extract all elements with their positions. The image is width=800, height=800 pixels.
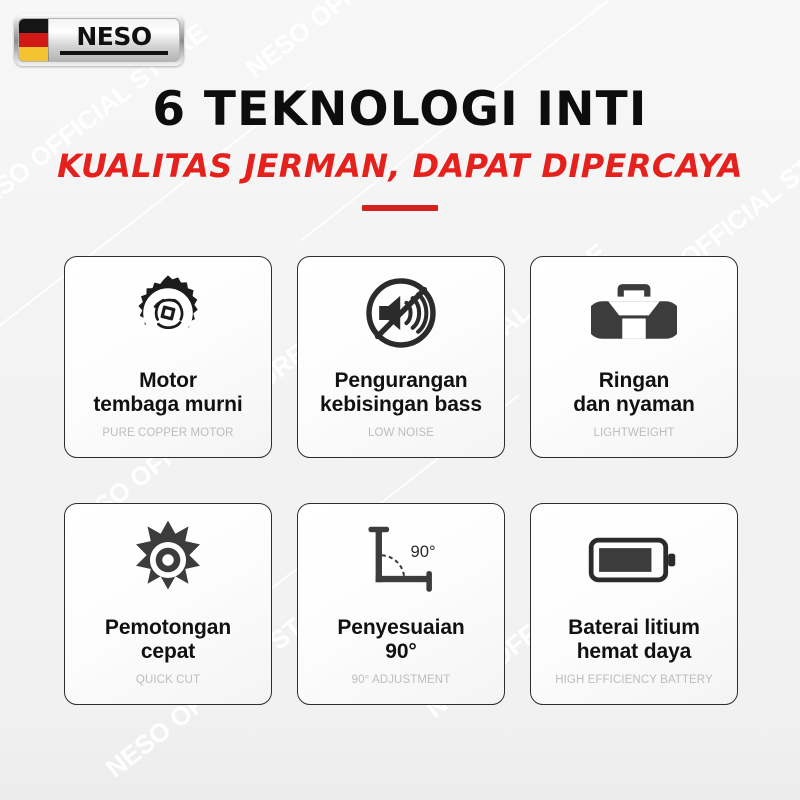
feature-title-line2: dan nyaman [573, 393, 695, 416]
feature-title-line2: 90° [385, 640, 416, 663]
mute-speaker-icon [362, 271, 440, 355]
title-divider [362, 205, 438, 211]
feature-title: Motor tembaga murni [91, 359, 244, 427]
feature-title: Ringan dan nyaman [571, 359, 697, 427]
feature-title-line2: kebisingan bass [320, 393, 482, 416]
page-title: 6 TEKNOLOGI INTI [0, 86, 800, 134]
feature-title: Baterai litium hemat daya [566, 606, 702, 674]
feature-card-90-adjustment[interactable]: 90° Penyesuaian 90° 90° ADJUSTMENT [297, 503, 505, 705]
neso-logo-badge: NESO [14, 14, 184, 66]
german-flag-icon [19, 19, 49, 61]
feature-title-line1: Pengurangan [334, 369, 467, 392]
feature-grid: Motor tembaga murni PURE COPPER MOTOR [64, 256, 738, 705]
feature-title-line2: tembaga murni [93, 393, 242, 416]
feature-title-line1: Penyesuaian [337, 616, 464, 639]
feature-title-line1: Pemotongan [105, 616, 231, 639]
gear-motor-icon [128, 271, 208, 355]
header-block: 6 TEKNOLOGI INTI KUALITAS JERMAN, DAPAT … [0, 86, 800, 211]
feature-title-line2: hemat daya [577, 640, 692, 663]
battery-icon [588, 518, 680, 602]
feature-card-battery[interactable]: Baterai litium hemat daya HIGH EFFICIENC… [530, 503, 738, 705]
page-subtitle: KUALITAS JERMAN, DAPAT DIPERCAYA [0, 150, 800, 184]
feature-subtitle: PURE COPPER MOTOR [102, 427, 233, 447]
feature-card-quick-cut[interactable]: Pemotongan cepat QUICK CUT [64, 503, 272, 705]
feature-title: Pemotongan cepat [103, 606, 233, 674]
feature-subtitle: QUICK CUT [136, 674, 200, 694]
feature-title-line1: Ringan [599, 369, 670, 392]
feature-card-pure-copper-motor[interactable]: Motor tembaga murni PURE COPPER MOTOR [64, 256, 272, 458]
toolbag-icon [591, 271, 677, 355]
angle-label: 90° [411, 542, 436, 561]
right-angle-ruler-icon: 90° [355, 518, 447, 602]
watermark-text: NESO OFFICIAL STORE [240, 0, 493, 84]
feature-title-line2: cepat [141, 640, 195, 663]
feature-title-line1: Motor [139, 369, 197, 392]
feature-title: Pengurangan kebisingan bass [318, 359, 484, 427]
feature-title-line1: Baterai litium [568, 616, 700, 639]
logo-underline [60, 51, 169, 55]
logo-wordmark: NESO [76, 25, 151, 49]
feature-subtitle: LIGHTWEIGHT [594, 427, 675, 447]
feature-subtitle: LOW NOISE [368, 427, 434, 447]
logo-wordmark-wrap: NESO [49, 19, 179, 61]
feature-subtitle: 90° ADJUSTMENT [352, 674, 451, 694]
feature-title: Penyesuaian 90° [335, 606, 466, 674]
infographic-page: NESO OFFICIAL STORE NESO OFFICIAL STORE … [0, 0, 800, 800]
saw-blade-icon [127, 518, 209, 602]
feature-card-lightweight[interactable]: Ringan dan nyaman LIGHTWEIGHT [530, 256, 738, 458]
feature-subtitle: HIGH EFFICIENCY BATTERY [555, 674, 713, 694]
feature-card-low-noise[interactable]: Pengurangan kebisingan bass LOW NOISE [297, 256, 505, 458]
logo-inner: NESO [18, 18, 180, 62]
